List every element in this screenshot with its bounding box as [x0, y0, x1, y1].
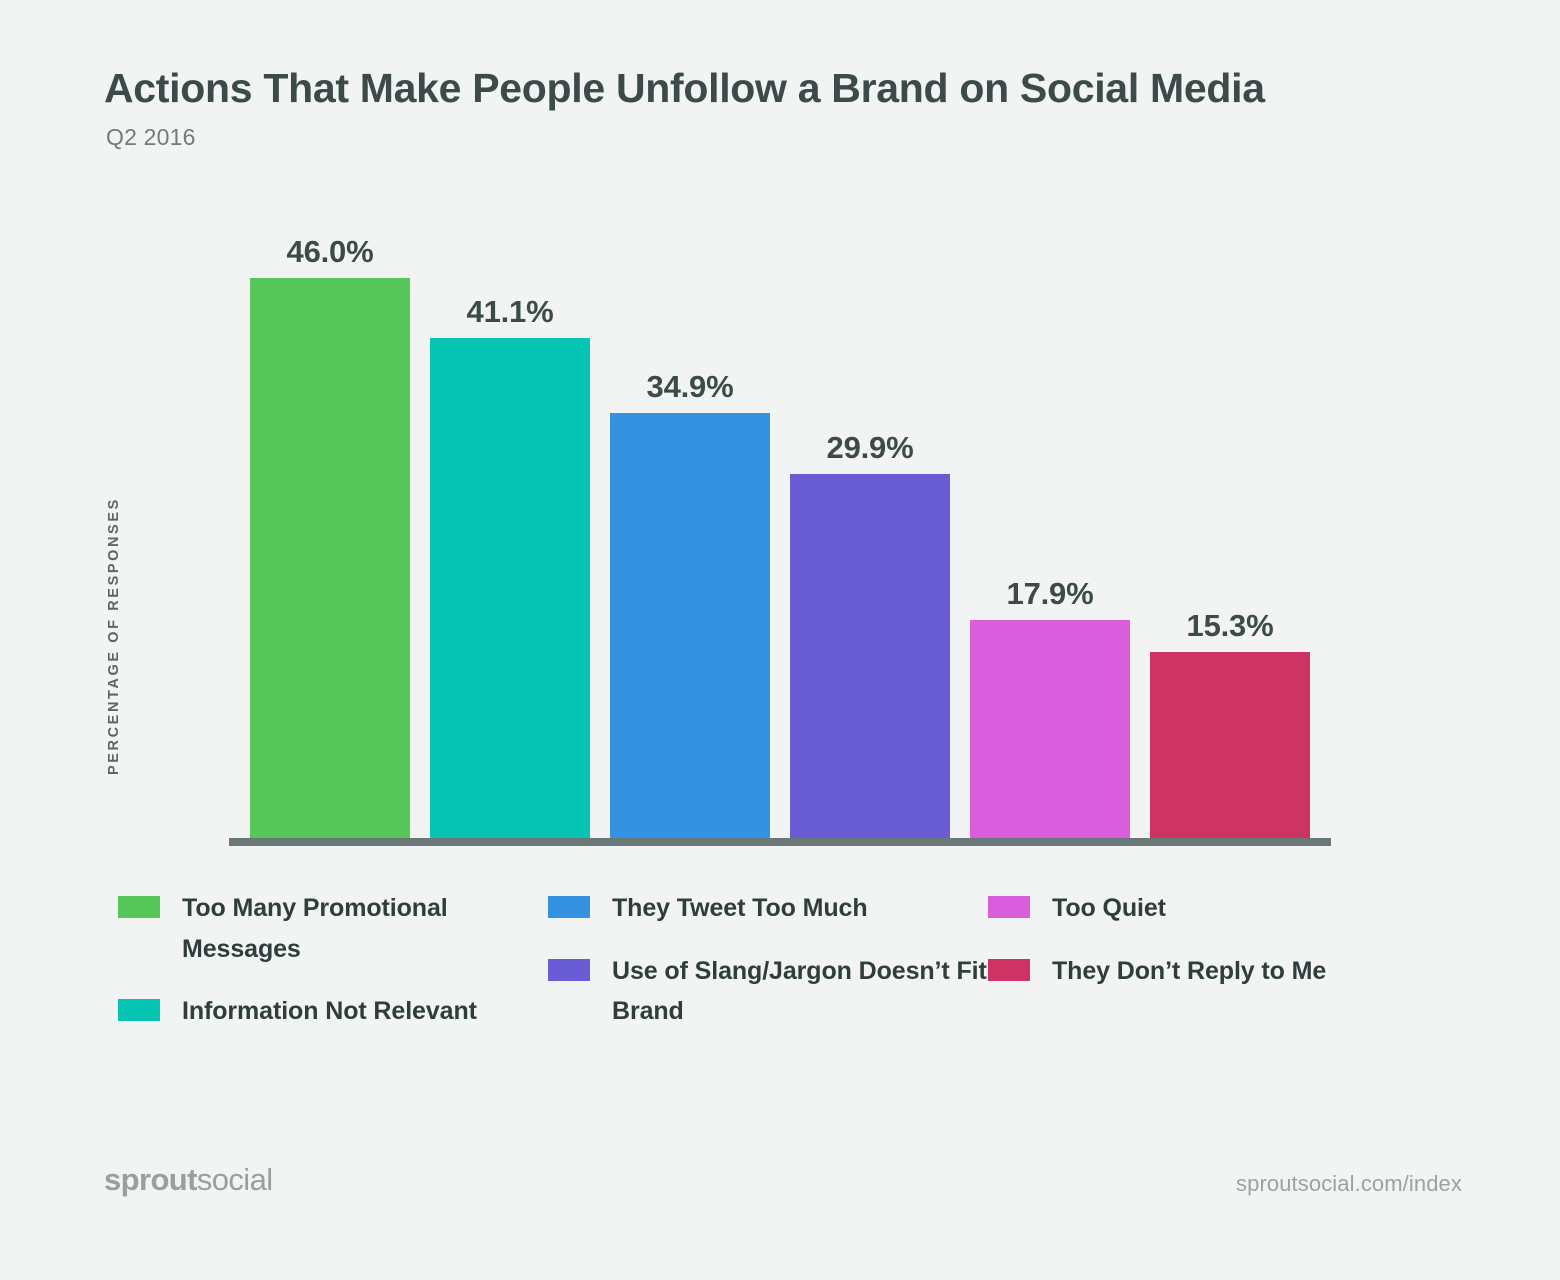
bar-value-label: 29.9%	[827, 430, 914, 466]
legend-item[interactable]: Too Many Promotional Messages	[118, 888, 548, 969]
bar-group: 17.9%	[970, 550, 1130, 838]
legend-column: Too Many Promotional MessagesInformation…	[118, 888, 548, 1054]
legend-item[interactable]: They Don’t Reply to Me	[988, 951, 1408, 992]
bar-series: 46.0%41.1%34.9%29.9%17.9%15.3%	[0, 0, 1560, 838]
bar-group: 29.9%	[790, 404, 950, 838]
chart-page: Actions That Make People Unfollow a Bran…	[0, 0, 1560, 1280]
legend-item-label: They Tweet Too Much	[612, 888, 868, 929]
bar-value-label: 41.1%	[467, 294, 554, 330]
legend-item-label: Use of Slang/Jargon Doesn’t Fit Brand	[612, 951, 988, 1032]
legend-item-label: Too Quiet	[1052, 888, 1166, 929]
legend-color-swatch	[988, 959, 1030, 981]
logo-bold-text: sprout	[104, 1162, 197, 1197]
bar-group: 34.9%	[610, 343, 770, 838]
legend-item-label: Too Many Promotional Messages	[182, 888, 548, 969]
legend-item[interactable]: They Tweet Too Much	[548, 888, 988, 929]
logo-light-text: social	[197, 1162, 273, 1197]
bar[interactable]	[250, 278, 410, 838]
bar-value-label: 34.9%	[647, 369, 734, 405]
legend-column: Too QuietThey Don’t Reply to Me	[988, 888, 1408, 1054]
legend-color-swatch	[548, 896, 590, 918]
bar-group: 41.1%	[430, 268, 590, 838]
chart-legend: Too Many Promotional MessagesInformation…	[118, 888, 1458, 1054]
bar[interactable]	[790, 474, 950, 838]
legend-color-swatch	[118, 999, 160, 1021]
bar-value-label: 15.3%	[1187, 608, 1274, 644]
legend-color-swatch	[548, 959, 590, 981]
legend-item[interactable]: Use of Slang/Jargon Doesn’t Fit Brand	[548, 951, 988, 1032]
legend-item[interactable]: Too Quiet	[988, 888, 1408, 929]
footer-url: sproutsocial.com/index	[1236, 1171, 1462, 1197]
legend-item-label: They Don’t Reply to Me	[1052, 951, 1326, 992]
legend-column: They Tweet Too MuchUse of Slang/Jargon D…	[548, 888, 988, 1054]
legend-item[interactable]: Information Not Relevant	[118, 991, 548, 1032]
plot-area: PERCENTAGE OF RESPONSES 46.0%41.1%34.9%2…	[0, 0, 1560, 1280]
bar-group: 46.0%	[250, 208, 410, 838]
x-axis-baseline	[229, 838, 1331, 846]
bar[interactable]	[430, 338, 590, 838]
legend-color-swatch	[988, 896, 1030, 918]
bar-value-label: 46.0%	[287, 234, 374, 270]
legend-item-label: Information Not Relevant	[182, 991, 477, 1032]
bar[interactable]	[970, 620, 1130, 838]
sprout-social-logo: sproutsocial	[104, 1162, 273, 1198]
legend-color-swatch	[118, 896, 160, 918]
bar[interactable]	[1150, 652, 1310, 838]
bar[interactable]	[610, 413, 770, 838]
bar-group: 15.3%	[1150, 582, 1310, 838]
bar-value-label: 17.9%	[1007, 576, 1094, 612]
